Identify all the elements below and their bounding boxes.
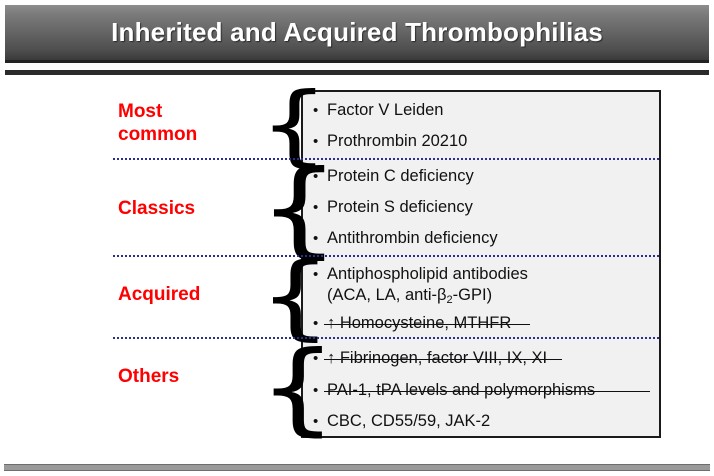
list-item-label: ↑ Homocysteine, MTHFR [327,313,511,334]
list-item-label: Antiphospholipid antibodies (ACA, LA, an… [327,264,528,308]
category-label-others: Others [118,365,179,388]
line-2-suffix: -GPI) [453,286,492,304]
bullet-marker-icon: • [313,131,327,152]
list-item-line-2: (ACA, LA, anti-β2-GPI) [327,286,492,304]
bullet-marker-icon: • [313,264,327,285]
slide-canvas: Inherited and Acquired Thrombophilias Mo… [0,0,714,476]
separator-acquired [113,337,659,339]
bullet-marker-icon: • [313,228,327,249]
list-item[interactable]: • Antiphospholipid antibodies (ACA, LA, … [313,264,528,308]
separator-classics [113,255,659,257]
list-item[interactable]: • Protein C deficiency [313,166,474,187]
list-item-label: CBC, CD55/59, JAK-2 [327,411,490,432]
list-item[interactable]: • ↑ Homocysteine, MTHFR [313,313,511,334]
list-item-line-1: Antiphospholipid antibodies [327,265,528,283]
list-item[interactable]: • CBC, CD55/59, JAK-2 [313,411,490,432]
title-underline-rule [5,70,709,75]
separator-most-common [113,158,659,160]
slide-title-bar: Inherited and Acquired Thrombophilias [5,5,709,63]
list-item-label: PAI-1, tPA levels and polymorphisms [327,380,595,401]
slide-footer-bar [4,464,710,471]
list-item-label: Protein C deficiency [327,166,474,187]
list-item-label: ↑ Fibrinogen, factor VIII, IX, XI [327,348,547,369]
line-2-prefix: (ACA, LA, anti-β [327,286,447,304]
category-label-most-common: Most common [118,100,197,146]
bullet-marker-icon: • [313,197,327,218]
page-title: Inherited and Acquired Thrombophilias [111,17,603,48]
list-item[interactable]: • Factor V Leiden [313,100,443,121]
list-item[interactable]: • Antithrombin deficiency [313,228,498,249]
list-item-label: Prothrombin 20210 [327,131,467,152]
list-item[interactable]: • PAI-1, tPA levels and polymorphisms [313,380,595,401]
list-item-label: Factor V Leiden [327,100,443,121]
list-item-label: Antithrombin deficiency [327,228,498,249]
list-item-label: Protein S deficiency [327,197,473,218]
bullet-marker-icon: • [313,166,327,187]
bullet-marker-icon: • [313,100,327,121]
list-item[interactable]: • Prothrombin 20210 [313,131,467,152]
bullet-marker-icon: • [313,411,327,432]
category-label-acquired: Acquired [118,283,200,306]
list-item[interactable]: • ↑ Fibrinogen, factor VIII, IX, XI [313,348,547,369]
category-label-classics: Classics [118,197,195,220]
beta-subscript: 2 [447,294,453,306]
list-item[interactable]: • Protein S deficiency [313,197,473,218]
